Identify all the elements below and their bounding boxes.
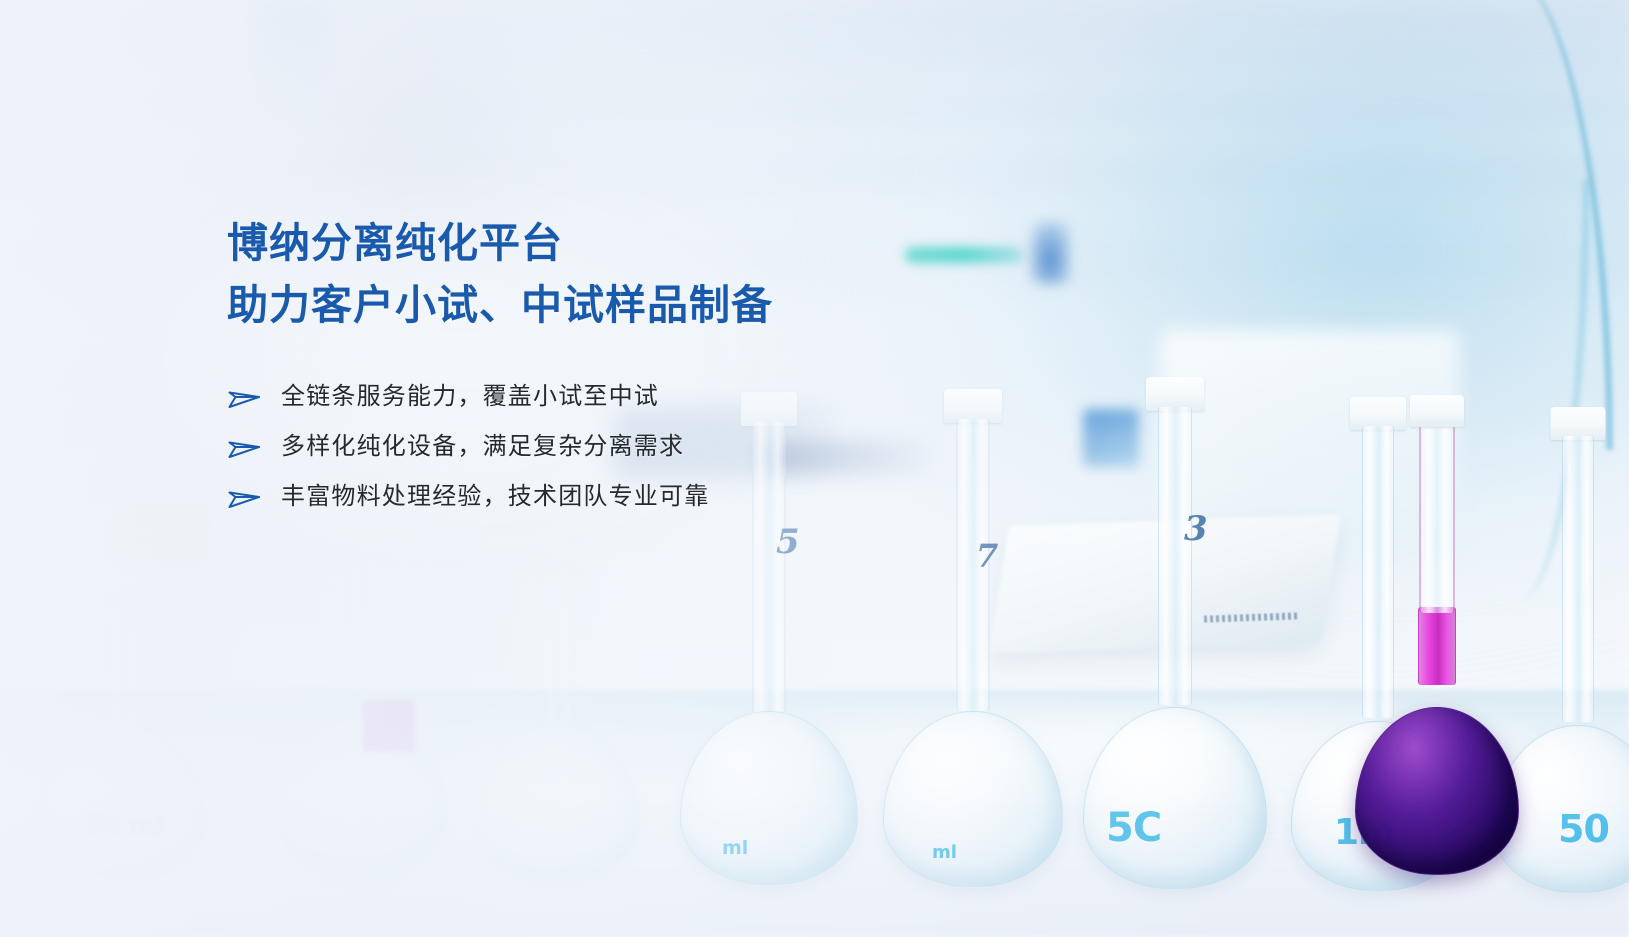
headline-line-2: 助力客户小试、中试样品制备 (227, 274, 987, 336)
paper-plane-outline-icon (227, 484, 261, 510)
feature-item-3: 丰富物料处理经验，技术团队专业可靠 (227, 484, 987, 510)
paper-plane-outline-icon (227, 384, 261, 410)
headline-line-1: 博纳分离纯化平台 (227, 212, 987, 274)
flask-bulb-purple (1355, 707, 1519, 875)
feature-item-1: 全链条服务能力，覆盖小试至中试 (227, 384, 987, 410)
feature-list: 全链条服务能力，覆盖小试至中试 多样化纯化设备，满足复杂分离需求 丰富物料处理经… (227, 384, 987, 510)
feature-item-label: 多样化纯化设备，满足复杂分离需求 (281, 435, 684, 459)
purple-volumetric-flask (1352, 377, 1522, 937)
hero-banner: 50 ml 5 ml 7 ml (0, 0, 1629, 937)
feature-item-2: 多样化纯化设备，满足复杂分离需求 (227, 434, 987, 460)
feature-item-label: 全链条服务能力，覆盖小试至中试 (281, 385, 659, 409)
banner-content: 博纳分离纯化平台 助力客户小试、中试样品制备 全链条服务能力，覆盖小试至中试 多… (227, 212, 987, 510)
flask-stopper (1410, 395, 1464, 427)
paper-plane-outline-icon (227, 434, 261, 460)
flask-neck-purple-liquid (1418, 607, 1456, 685)
flask-neck-clear (1420, 425, 1455, 613)
feature-item-label: 丰富物料处理经验，技术团队专业可靠 (281, 485, 709, 509)
